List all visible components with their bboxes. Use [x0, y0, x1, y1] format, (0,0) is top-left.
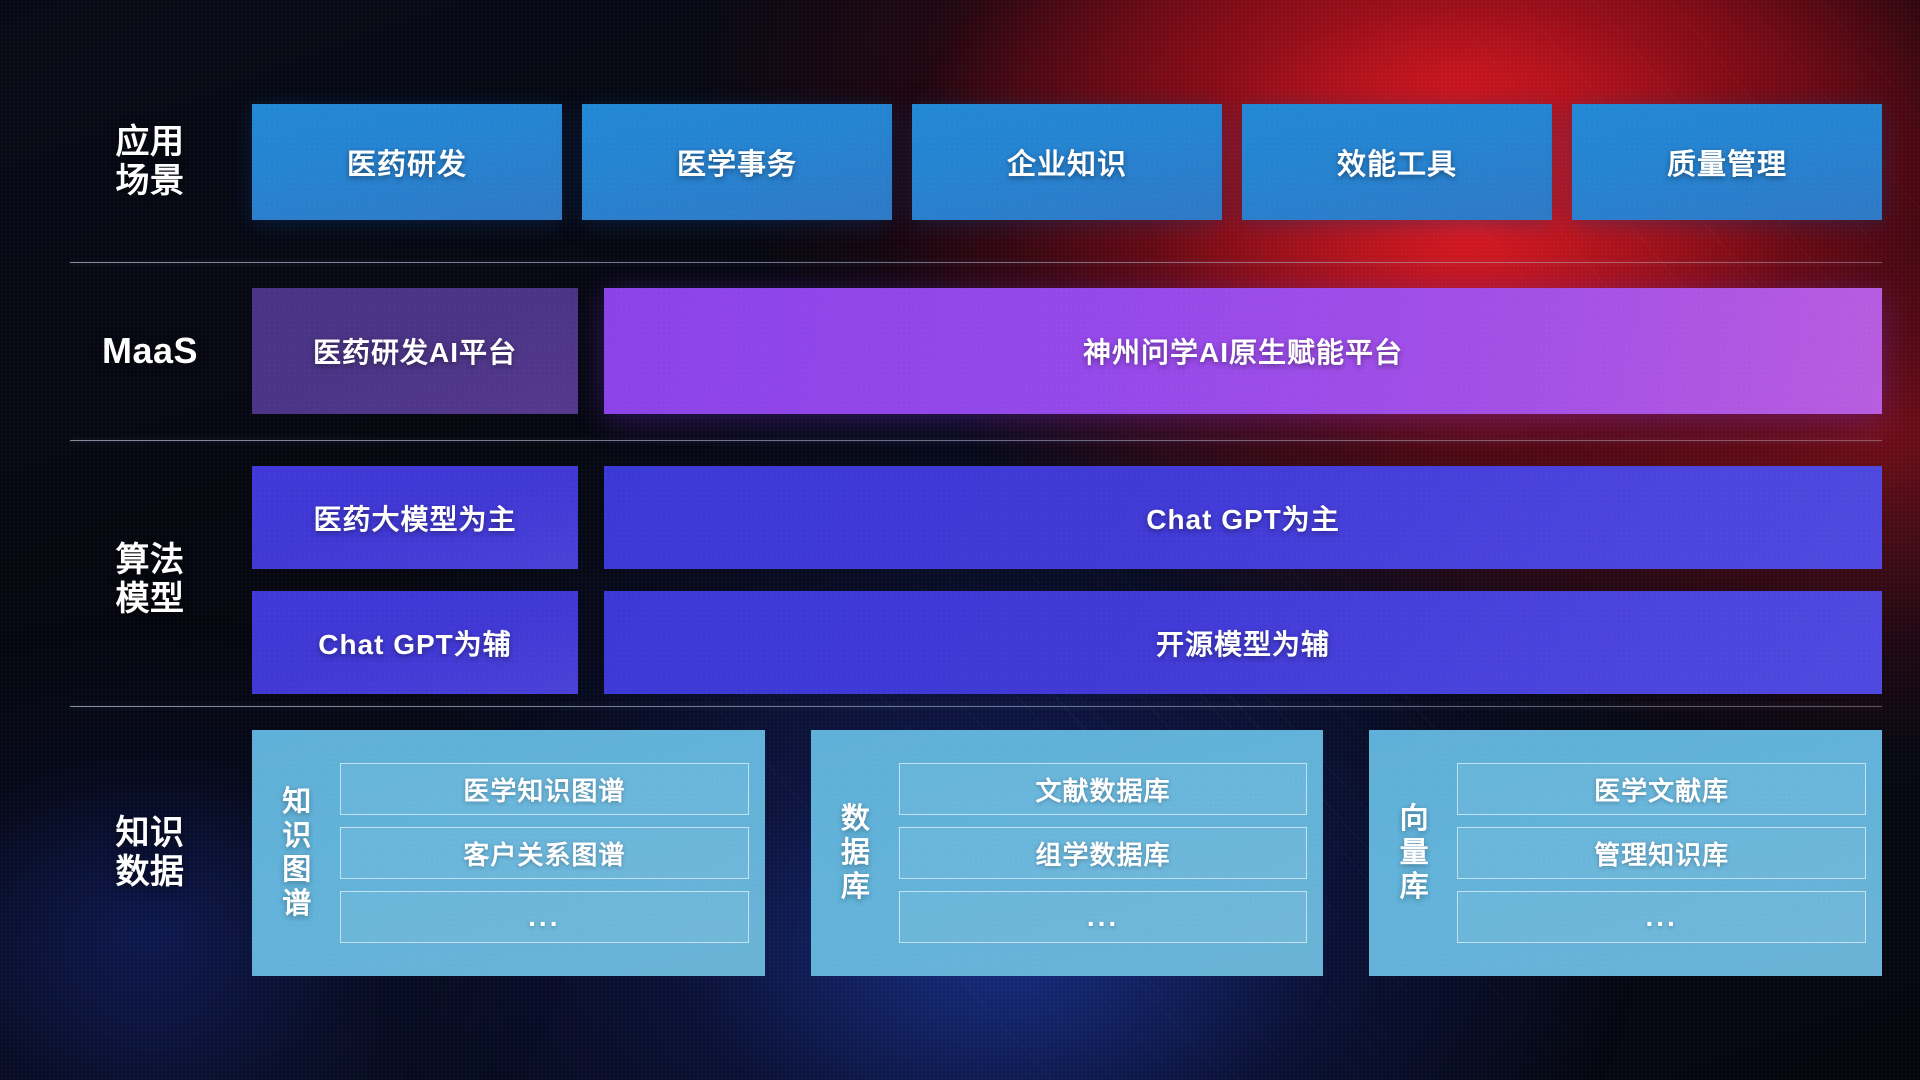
knowledge-item[interactable]: 文献数据库	[899, 763, 1308, 815]
knowledge-item-more[interactable]: ...	[899, 891, 1308, 943]
divider-maas-algorithm	[70, 440, 1882, 441]
knowledge-panel-title: 知 识 图 谱	[266, 785, 328, 922]
application-box-label: 医学事务	[677, 141, 797, 183]
knowledge-item-list: 医学知识图谱 客户关系图谱 ...	[340, 763, 749, 943]
application-box-quality-management[interactable]: 质量管理	[1572, 104, 1882, 220]
algorithm-box-label: 开源模型为辅	[1156, 623, 1330, 663]
application-box-efficiency-tools[interactable]: 效能工具	[1242, 104, 1552, 220]
algorithm-box-chatgpt-primary[interactable]: Chat GPT为主	[604, 466, 1882, 569]
layer-algorithm-models: 算法 模型 医药大模型为主 Chat GPT为主 Chat GPT为辅 开源模型…	[70, 466, 1882, 694]
knowledge-panel-group: 知 识 图 谱 医学知识图谱 客户关系图谱 ... 数 据 库 文献数据库 组学…	[252, 730, 1882, 976]
knowledge-item-more[interactable]: ...	[1457, 891, 1866, 943]
knowledge-panel-vector-store[interactable]: 向 量 库 医学文献库 管理知识库 ...	[1369, 730, 1882, 976]
application-box-label: 企业知识	[1007, 141, 1127, 183]
knowledge-panel-title: 数 据 库	[825, 802, 887, 905]
application-box-label: 效能工具	[1337, 141, 1457, 183]
knowledge-item-more[interactable]: ...	[340, 891, 749, 943]
layer-label-knowledge: 知识 数据	[70, 814, 230, 892]
layer-knowledge-data: 知识 数据 知 识 图 谱 医学知识图谱 客户关系图谱 ... 数 据 库 文献…	[70, 730, 1882, 976]
layer-label-application: 应用 场景	[70, 123, 230, 201]
knowledge-item-list: 医学文献库 管理知识库 ...	[1457, 763, 1866, 943]
layer-application-scenarios: 应用 场景 医药研发 医学事务 企业知识 效能工具 质量管理	[70, 104, 1882, 220]
knowledge-panel-knowledge-graph[interactable]: 知 识 图 谱 医学知识图谱 客户关系图谱 ...	[252, 730, 765, 976]
knowledge-panel-title: 向 量 库	[1383, 802, 1445, 905]
algorithm-box-label: Chat GPT为主	[1146, 498, 1340, 538]
application-box-label: 医药研发	[347, 141, 467, 183]
application-box-group: 医药研发 医学事务 企业知识 效能工具 质量管理	[252, 104, 1882, 220]
divider-algorithm-knowledge	[70, 706, 1882, 707]
divider-application-maas	[70, 262, 1882, 263]
algorithm-box-label: 医药大模型为主	[313, 498, 516, 538]
maas-box-label: 神州问学AI原生赋能平台	[1083, 331, 1403, 371]
knowledge-item[interactable]: 管理知识库	[1457, 827, 1866, 879]
knowledge-item[interactable]: 医学文献库	[1457, 763, 1866, 815]
knowledge-panel-database[interactable]: 数 据 库 文献数据库 组学数据库 ...	[811, 730, 1324, 976]
algorithm-row-primary: 医药大模型为主 Chat GPT为主	[252, 466, 1882, 569]
algorithm-box-label: Chat GPT为辅	[318, 623, 512, 663]
algorithm-box-drug-llm-primary[interactable]: 医药大模型为主	[252, 466, 578, 569]
maas-box-drug-rd-ai-platform[interactable]: 医药研发AI平台	[252, 288, 578, 414]
algorithm-box-opensource-secondary[interactable]: 开源模型为辅	[604, 591, 1882, 694]
layer-label-maas: MaaS	[70, 330, 230, 371]
maas-box-shenzhou-wenxue-platform[interactable]: 神州问学AI原生赋能平台	[604, 288, 1882, 414]
layer-maas: MaaS 医药研发AI平台 神州问学AI原生赋能平台	[70, 288, 1882, 414]
application-box-drug-rd[interactable]: 医药研发	[252, 104, 562, 220]
knowledge-item[interactable]: 医学知识图谱	[340, 763, 749, 815]
application-box-medical-affairs[interactable]: 医学事务	[582, 104, 892, 220]
knowledge-item-list: 文献数据库 组学数据库 ...	[899, 763, 1308, 943]
algorithm-box-chatgpt-secondary[interactable]: Chat GPT为辅	[252, 591, 578, 694]
maas-box-label: 医药研发AI平台	[313, 331, 517, 371]
application-box-enterprise-knowledge[interactable]: 企业知识	[912, 104, 1222, 220]
knowledge-item[interactable]: 客户关系图谱	[340, 827, 749, 879]
architecture-diagram-slide: 应用 场景 医药研发 医学事务 企业知识 效能工具 质量管理	[0, 0, 1920, 1080]
algorithm-row-secondary: Chat GPT为辅 开源模型为辅	[252, 591, 1882, 694]
algorithm-box-grid: 医药大模型为主 Chat GPT为主 Chat GPT为辅 开源模型为辅	[252, 466, 1882, 694]
application-box-label: 质量管理	[1667, 141, 1787, 183]
knowledge-item[interactable]: 组学数据库	[899, 827, 1308, 879]
layer-label-algorithm: 算法 模型	[70, 541, 230, 619]
maas-box-group: 医药研发AI平台 神州问学AI原生赋能平台	[252, 288, 1882, 414]
